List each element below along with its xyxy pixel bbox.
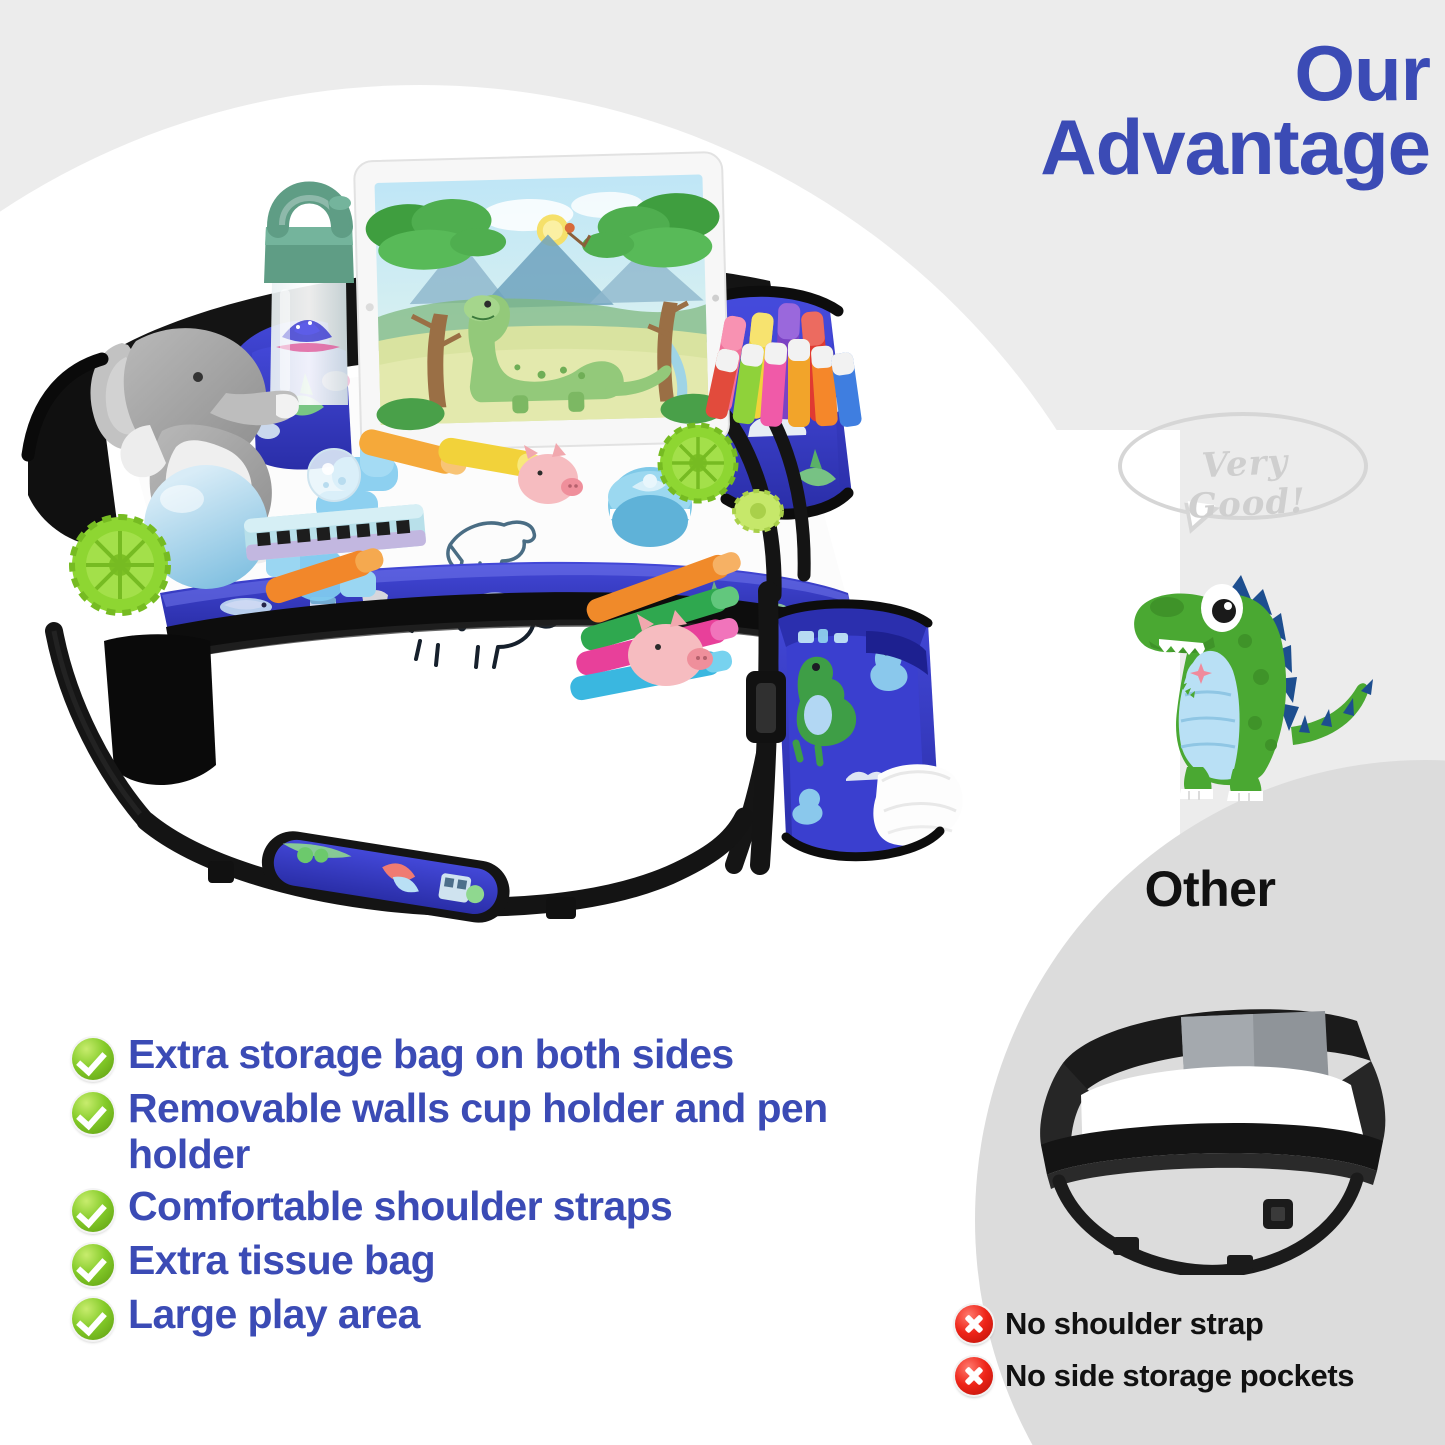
list-item: Extra tissue bag	[72, 1238, 902, 1286]
infographic-canvas: Our Advantage Very Good!	[0, 0, 1445, 1445]
list-item: Large play area	[72, 1292, 902, 1340]
green-check-icon	[72, 1298, 114, 1340]
list-item: Removable walls cup holder and pen holde…	[72, 1086, 902, 1178]
page-title-line2: Advantage	[890, 110, 1430, 184]
list-item: No shoulder strap	[955, 1305, 1445, 1343]
other-section-title: Other	[1060, 860, 1360, 918]
product-photo	[10, 75, 970, 965]
list-item: Comfortable shoulder straps	[72, 1184, 902, 1232]
list-item: No side storage pockets	[955, 1357, 1445, 1395]
con-label: No side storage pockets	[1005, 1358, 1354, 1394]
con-label: No shoulder strap	[1005, 1306, 1263, 1342]
advantage-label: Removable walls cup holder and pen holde…	[128, 1086, 902, 1178]
advantage-label: Extra storage bag on both sides	[128, 1032, 734, 1078]
page-title: Our Advantage	[890, 36, 1430, 184]
speech-bubble-text: Very Good!	[1144, 439, 1348, 529]
advantages-list: Extra storage bag on both sides Removabl…	[72, 1032, 902, 1346]
green-check-icon	[72, 1092, 114, 1134]
red-x-icon	[955, 1305, 993, 1343]
green-check-icon	[72, 1190, 114, 1232]
green-check-icon	[72, 1244, 114, 1286]
green-check-icon	[72, 1038, 114, 1080]
advantage-label: Extra tissue bag	[128, 1238, 435, 1284]
red-x-icon	[955, 1357, 993, 1395]
page-title-line1: Our	[890, 36, 1430, 110]
advantage-label: Large play area	[128, 1292, 420, 1338]
list-item: Extra storage bag on both sides	[72, 1032, 902, 1080]
advantage-label: Comfortable shoulder straps	[128, 1184, 672, 1230]
competitor-tray-image	[985, 945, 1415, 1275]
cons-list: No shoulder strap No side storage pocket…	[955, 1305, 1445, 1409]
dinosaur-mascot-icon	[1115, 545, 1395, 825]
